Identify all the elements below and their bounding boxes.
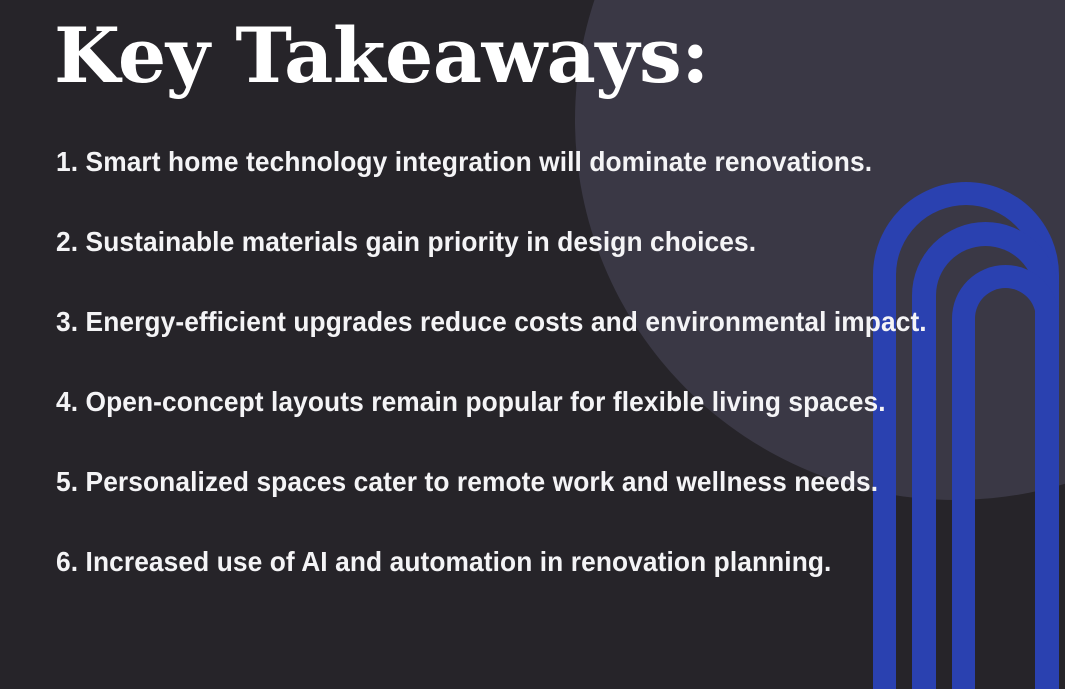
page-title: Key Takeaways: [54, 15, 709, 97]
slide-content: Key Takeaways: 1. Smart home technology … [0, 0, 1065, 689]
list-item: 6. Increased use of AI and automation in… [56, 548, 892, 628]
list-item: 2. Sustainable materials gain priority i… [56, 228, 892, 308]
list-item: 3. Energy-efficient upgrades reduce cost… [56, 308, 892, 388]
list-item: 1. Smart home technology integration wil… [56, 148, 892, 228]
list-item: 5. Personalized spaces cater to remote w… [56, 468, 892, 548]
takeaways-list: 1. Smart home technology integration wil… [56, 148, 945, 628]
list-item: 4. Open-concept layouts remain popular f… [56, 388, 892, 468]
key-takeaways-slide: Key Takeaways: 1. Smart home technology … [0, 0, 1065, 689]
